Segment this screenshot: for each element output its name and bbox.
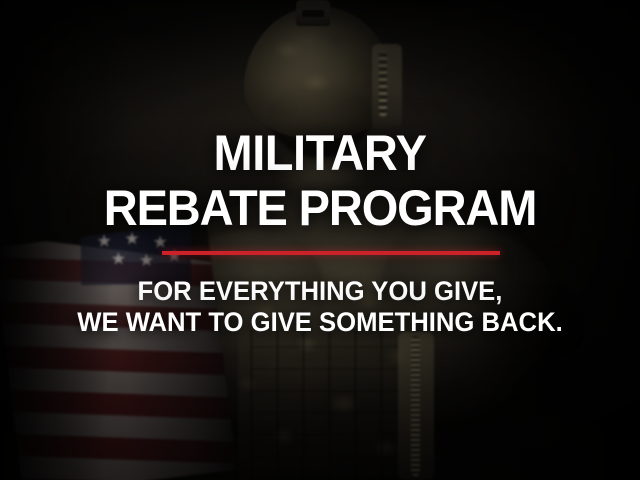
soldier-collar (262, 150, 380, 220)
military-rebate-program-banner: MILITARY REBATE PROGRAM FOR EVERYTHING Y… (0, 0, 640, 480)
background-photo (0, 0, 640, 480)
gear-pouch (398, 332, 434, 480)
american-flag (0, 222, 237, 480)
molle-webbing (250, 330, 400, 480)
helmet-side-rail (372, 44, 402, 128)
nvg-mount-icon (296, 0, 330, 26)
flag-shading (0, 222, 237, 480)
